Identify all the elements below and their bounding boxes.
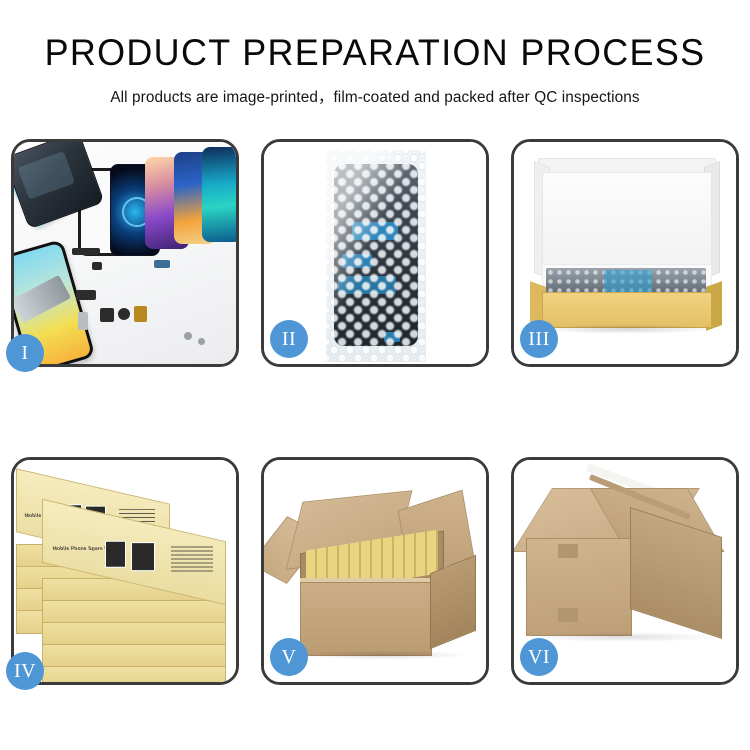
process-step-panel-5[interactable]: V (261, 457, 489, 685)
step-badge-2: II (270, 320, 308, 358)
step-badge-3: III (520, 320, 558, 358)
box-spec-text-b (171, 546, 213, 572)
part-antenna-strip (154, 260, 170, 268)
page-subtitle: All products are image-printed，film-coat… (4, 85, 747, 107)
carton-hand-hole-top (558, 544, 578, 558)
box-front-panel (542, 292, 712, 328)
plastic-gloss-overlay (326, 150, 426, 362)
carton-drop-shadow (298, 650, 468, 660)
carton-hand-hole-bottom (558, 608, 578, 622)
process-step-panel-4[interactable]: Mobile Phone Spare Parts Mobile Phone Sp… (11, 457, 239, 685)
carton-drop-shadow (528, 632, 718, 642)
part-screw-a (184, 332, 192, 340)
box-screen-thumb-b2 (131, 542, 155, 571)
process-step-grid: I II (11, 139, 739, 685)
part-sim-tray (78, 312, 88, 330)
process-step-panel-3[interactable]: III (511, 139, 739, 367)
page-title: PRODUCT PREPARATION PROCESS (11, 34, 739, 71)
box-screen-thumb-b1 (105, 541, 126, 568)
step-badge-1: I (6, 334, 44, 372)
stacked-box-right-2 (42, 600, 226, 624)
process-step-panel-1[interactable]: I (11, 139, 239, 367)
step-4-photo: Mobile Phone Spare Parts Mobile Phone Sp… (14, 460, 236, 682)
step-1-photo (14, 142, 236, 364)
page-header: PRODUCT PREPARATION PROCESS All products… (0, 0, 750, 107)
box-drop-shadow (536, 324, 716, 334)
stacked-box-right-4 (42, 644, 226, 668)
process-step-panel-6[interactable]: VI (511, 457, 739, 685)
part-camera-module (100, 308, 114, 322)
phone-screen-teal (202, 147, 236, 242)
carton-front-panel (526, 538, 632, 636)
product-blue-accent (604, 270, 652, 292)
step-badge-5: V (270, 638, 308, 676)
stacked-box-right-5 (42, 666, 226, 682)
part-earpiece-mesh (72, 248, 100, 255)
stacked-box-right-3 (42, 622, 226, 646)
process-step-panel-2[interactable]: II (261, 139, 489, 367)
part-button-set (92, 262, 102, 270)
part-battery-connector (134, 306, 147, 322)
carton-front-panel (300, 582, 432, 656)
step-badge-4: IV (6, 652, 44, 690)
step-badge-6: VI (520, 638, 558, 676)
part-speaker-round (118, 308, 130, 320)
part-screw-b (198, 338, 205, 345)
part-connector-small (76, 290, 96, 300)
